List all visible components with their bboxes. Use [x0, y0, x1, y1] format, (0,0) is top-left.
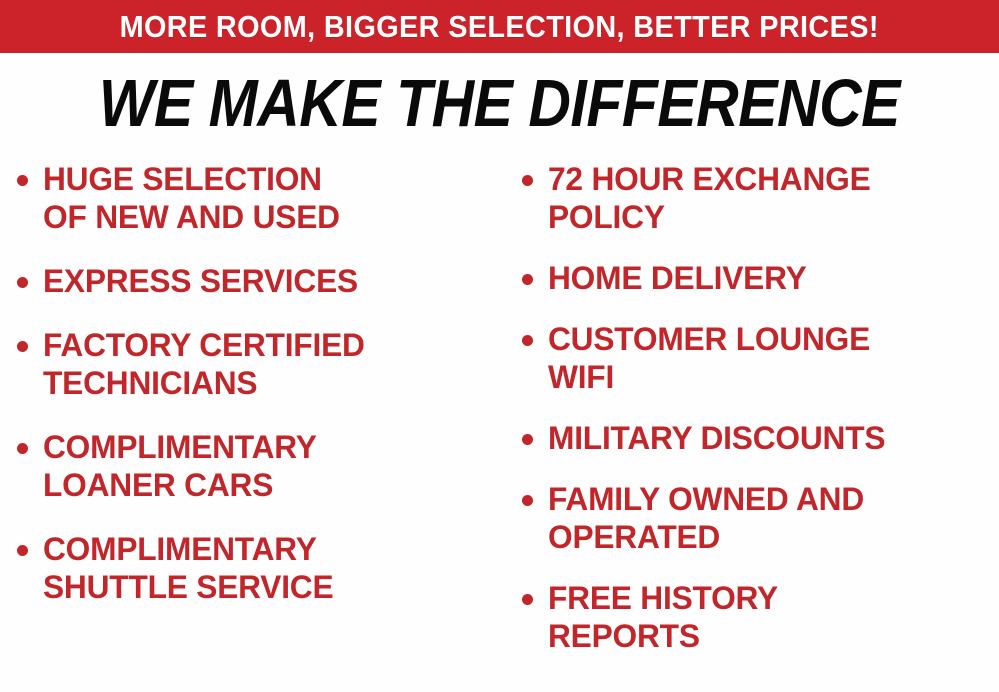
list-item: COMPLIMENTARY LOANER CARS [17, 428, 505, 504]
list-item-label: FAMILY OWNED AND OPERATED [548, 480, 864, 556]
list-item-label: CUSTOMER LOUNGE WIFI [548, 320, 870, 396]
bullet-dot-icon [17, 545, 28, 556]
list-item: FACTORY CERTIFIED TECHNICIANS [17, 326, 505, 402]
bullet-dot-icon [522, 335, 533, 346]
bullet-dot-icon [17, 443, 28, 454]
list-item: HUGE SELECTION OF NEW AND USED [17, 160, 505, 236]
headline: WE MAKE THE DIFFERENCE [0, 68, 999, 136]
list-item-label: MILITARY DISCOUNTS [548, 419, 885, 457]
top-promo-banner: MORE ROOM, BIGGER SELECTION, BETTER PRIC… [0, 0, 999, 53]
bullet-dot-icon [522, 434, 533, 445]
list-item-label: COMPLIMENTARY LOANER CARS [43, 428, 317, 504]
list-item-label: 72 HOUR EXCHANGE POLICY [548, 160, 871, 236]
list-item: FREE HISTORY REPORTS [522, 579, 999, 655]
list-item-label: HOME DELIVERY [548, 259, 807, 297]
benefits-columns: HUGE SELECTION OF NEW AND USED EXPRESS S… [0, 160, 999, 692]
list-item-label: HUGE SELECTION OF NEW AND USED [43, 160, 340, 236]
list-item-label: FACTORY CERTIFIED TECHNICIANS [43, 326, 365, 402]
bullet-dot-icon [522, 274, 533, 285]
list-item: 72 HOUR EXCHANGE POLICY [522, 160, 999, 236]
dealership-promo-banner: MORE ROOM, BIGGER SELECTION, BETTER PRIC… [0, 0, 999, 692]
list-item: CUSTOMER LOUNGE WIFI [522, 320, 999, 396]
list-item-label: COMPLIMENTARY SHUTTLE SERVICE [43, 530, 333, 606]
top-promo-banner-text: MORE ROOM, BIGGER SELECTION, BETTER PRIC… [120, 11, 879, 42]
bullet-dot-icon [17, 341, 28, 352]
list-item: HOME DELIVERY [522, 259, 999, 297]
bullet-dot-icon [17, 277, 28, 288]
list-item: EXPRESS SERVICES [17, 262, 505, 300]
bullet-dot-icon [17, 175, 28, 186]
list-item-label: FREE HISTORY REPORTS [548, 579, 778, 655]
list-item: MILITARY DISCOUNTS [522, 419, 999, 457]
benefits-column-right: 72 HOUR EXCHANGE POLICY HOME DELIVERY CU… [505, 160, 999, 692]
list-item: FAMILY OWNED AND OPERATED [522, 480, 999, 556]
list-item: COMPLIMENTARY SHUTTLE SERVICE [17, 530, 505, 606]
bullet-dot-icon [522, 594, 533, 605]
list-item-label: EXPRESS SERVICES [43, 262, 358, 300]
benefits-column-left: HUGE SELECTION OF NEW AND USED EXPRESS S… [0, 160, 505, 692]
bullet-dot-icon [522, 175, 533, 186]
bullet-dot-icon [522, 495, 533, 506]
headline-text: WE MAKE THE DIFFERENCE [99, 68, 900, 139]
